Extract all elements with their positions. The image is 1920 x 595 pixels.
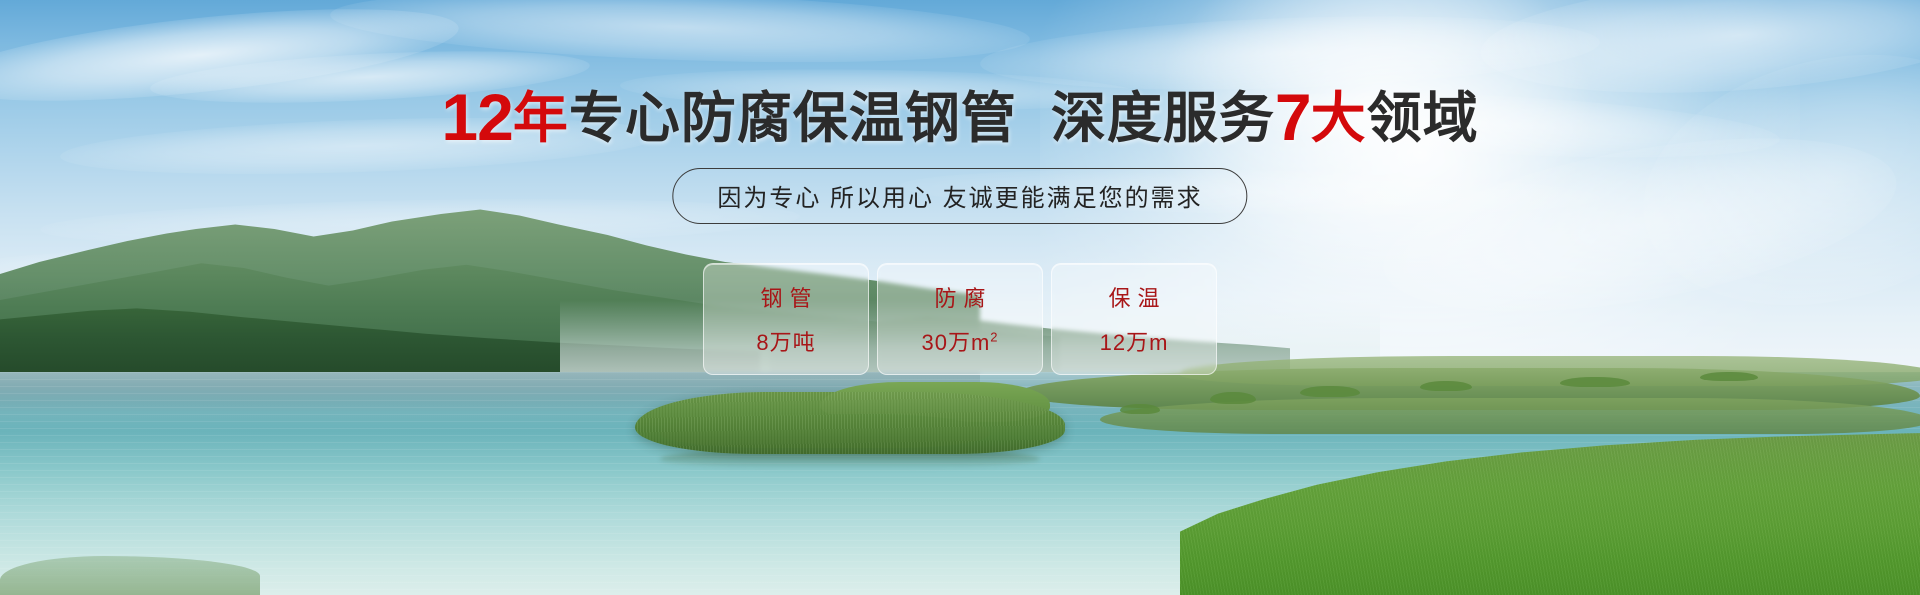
headline-service-phrase: 深度服务 (1051, 87, 1275, 149)
hero-banner: 12年专心防腐保温钢管深度服务7大领域 因为专心 所以用心 友诚更能满足您的需求… (0, 0, 1920, 595)
headline-main-phrase: 专心防腐保温钢管 (569, 87, 1017, 149)
stat-label: 保温 (1101, 281, 1166, 313)
stat-value-superscript: 2 (990, 330, 998, 345)
stat-value: 8万吨 (756, 325, 815, 357)
left-shore-grass (0, 556, 260, 595)
marsh-far-2 (1180, 356, 1920, 386)
stat-card-insulation[interactable]: 保温 12万m (1051, 263, 1217, 375)
headline-fields-word: 领域 (1367, 87, 1479, 149)
grass-tuft (1560, 377, 1630, 387)
stat-value-base: 12万m (1100, 330, 1169, 355)
grass-tuft (1210, 392, 1256, 404)
grass-tuft (1120, 404, 1160, 414)
banner-subtitle-pill: 因为专心 所以用心 友诚更能满足您的需求 (672, 168, 1247, 224)
grass-tuft (1700, 372, 1758, 381)
stat-label: 防腐 (927, 281, 992, 313)
headline-fields-unit: 大 (1311, 87, 1367, 149)
banner-subtitle-text: 因为专心 所以用心 友诚更能满足您的需求 (717, 185, 1202, 212)
banner-headline: 12年专心防腐保温钢管深度服务7大领域 (0, 83, 1920, 153)
stat-card-anticorrosion[interactable]: 防腐 30万m2 (877, 263, 1043, 375)
stat-value-base: 30万m (921, 330, 990, 355)
grass-tuft (1420, 381, 1472, 391)
stat-value: 30万m2 (921, 325, 998, 357)
stat-label: 钢管 (753, 281, 818, 313)
stat-value-base: 8万吨 (756, 330, 815, 355)
headline-fields-number: 7 (1275, 80, 1311, 154)
stat-card-group: 钢管 8万吨 防腐 30万m2 保温 12万m (703, 263, 1217, 375)
stat-value: 12万m (1100, 325, 1169, 357)
grass-tuft (1300, 386, 1360, 397)
headline-years-unit: 年 (513, 87, 569, 149)
stat-card-steel-pipe[interactable]: 钢管 8万吨 (703, 263, 869, 375)
headline-years-number: 12 (441, 80, 512, 154)
grass-island-texture (635, 392, 1065, 454)
